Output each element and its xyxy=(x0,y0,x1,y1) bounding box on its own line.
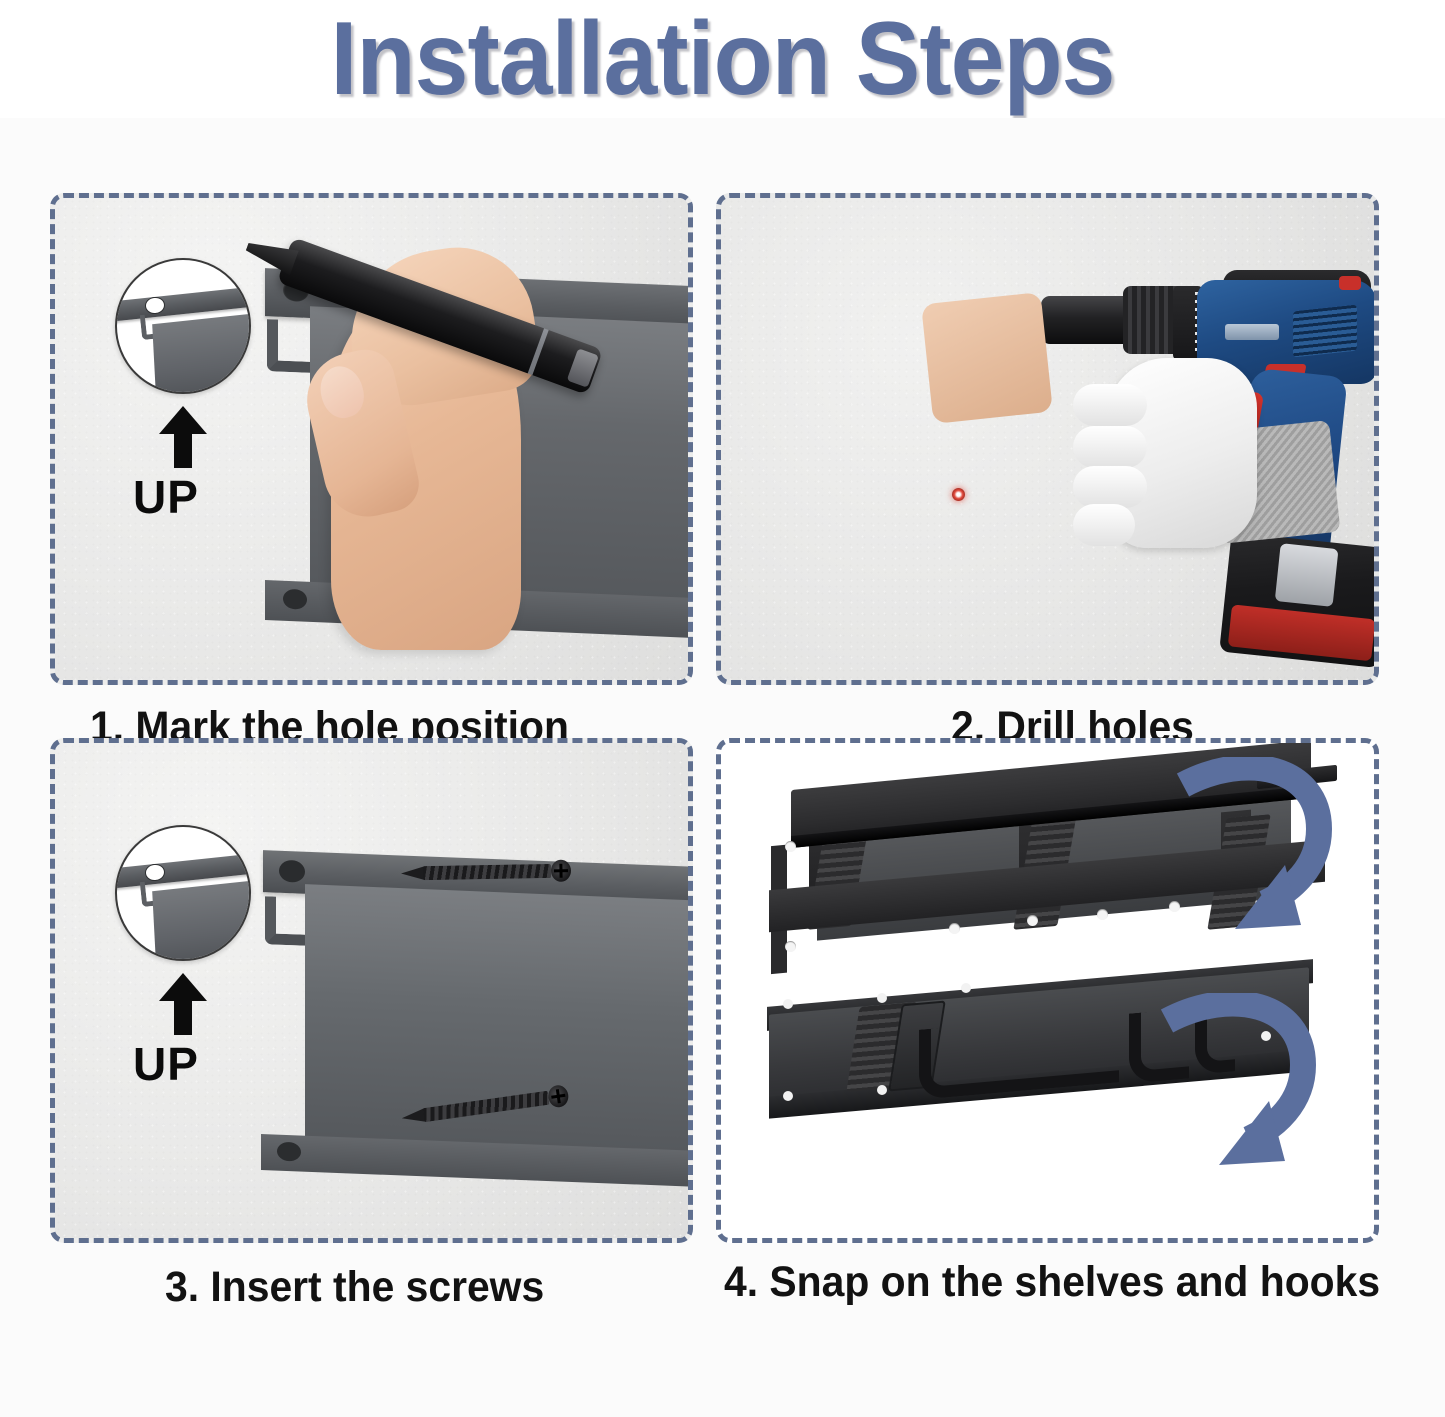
mounting-hole xyxy=(783,1091,793,1101)
screw-head-phillips xyxy=(547,1084,570,1109)
screw-tip xyxy=(401,866,425,880)
curved-snap-arrow-icon xyxy=(1169,757,1359,947)
detail-body xyxy=(152,312,251,394)
step-2-image-panel xyxy=(716,193,1379,685)
detail-body xyxy=(152,879,251,961)
step-3: UP 3. Insert the screws xyxy=(0,738,706,1358)
curved-snap-arrow-icon xyxy=(1153,993,1343,1183)
rail-face xyxy=(305,884,693,1178)
mounting-hole xyxy=(961,983,971,993)
hand-with-marker xyxy=(291,230,591,660)
glove-finger xyxy=(1073,426,1147,468)
magnified-detail-icon xyxy=(115,258,251,394)
forearm xyxy=(921,292,1053,424)
step-1-image-panel: UP xyxy=(50,193,693,685)
installation-steps-grid: UP 1. Mark the hole position xyxy=(0,118,1445,1417)
mounting-hole xyxy=(785,841,796,852)
marked-hole-point xyxy=(952,488,965,501)
work-glove xyxy=(1107,348,1317,608)
mounting-hole xyxy=(949,923,960,934)
screw-thread xyxy=(423,864,551,880)
battery-label xyxy=(1228,604,1376,661)
step-1: UP 1. Mark the hole position xyxy=(0,118,706,738)
step-4-caption: 4. Snap on the shelves and hooks xyxy=(724,1258,1380,1307)
orientation-label-up: UP xyxy=(133,470,199,524)
magnified-detail-icon xyxy=(115,825,251,961)
step-3-image-panel: UP xyxy=(50,738,693,1243)
drill-badge xyxy=(1225,324,1279,340)
step-4: 4. Snap on the shelves and hooks xyxy=(706,738,1445,1358)
page-title: Installation Steps xyxy=(330,7,1114,111)
orientation-label-up: UP xyxy=(133,1037,199,1091)
step-3-caption: 3. Insert the screws xyxy=(165,1263,544,1312)
mounting-hole xyxy=(785,941,796,952)
glove-finger xyxy=(1073,466,1147,508)
mounting-hole xyxy=(1027,915,1038,926)
mounting-hole xyxy=(877,993,887,1003)
rail-keyhole xyxy=(279,860,305,883)
rail-bottom-hole xyxy=(277,1142,301,1162)
drill-direction-switch xyxy=(1339,276,1361,290)
mounting-hole xyxy=(783,999,793,1009)
page-header: Installation Steps xyxy=(0,0,1445,118)
screw-icon xyxy=(401,859,579,884)
glove-finger xyxy=(1073,384,1147,426)
mounting-hole xyxy=(1097,909,1108,920)
screw-head-phillips xyxy=(551,860,571,882)
step-4-image-panel xyxy=(716,738,1379,1243)
glove-finger xyxy=(1073,504,1135,546)
step-2: 2. Drill holes xyxy=(706,118,1445,738)
mounting-hole xyxy=(877,1085,887,1095)
rail-lip xyxy=(265,896,307,946)
